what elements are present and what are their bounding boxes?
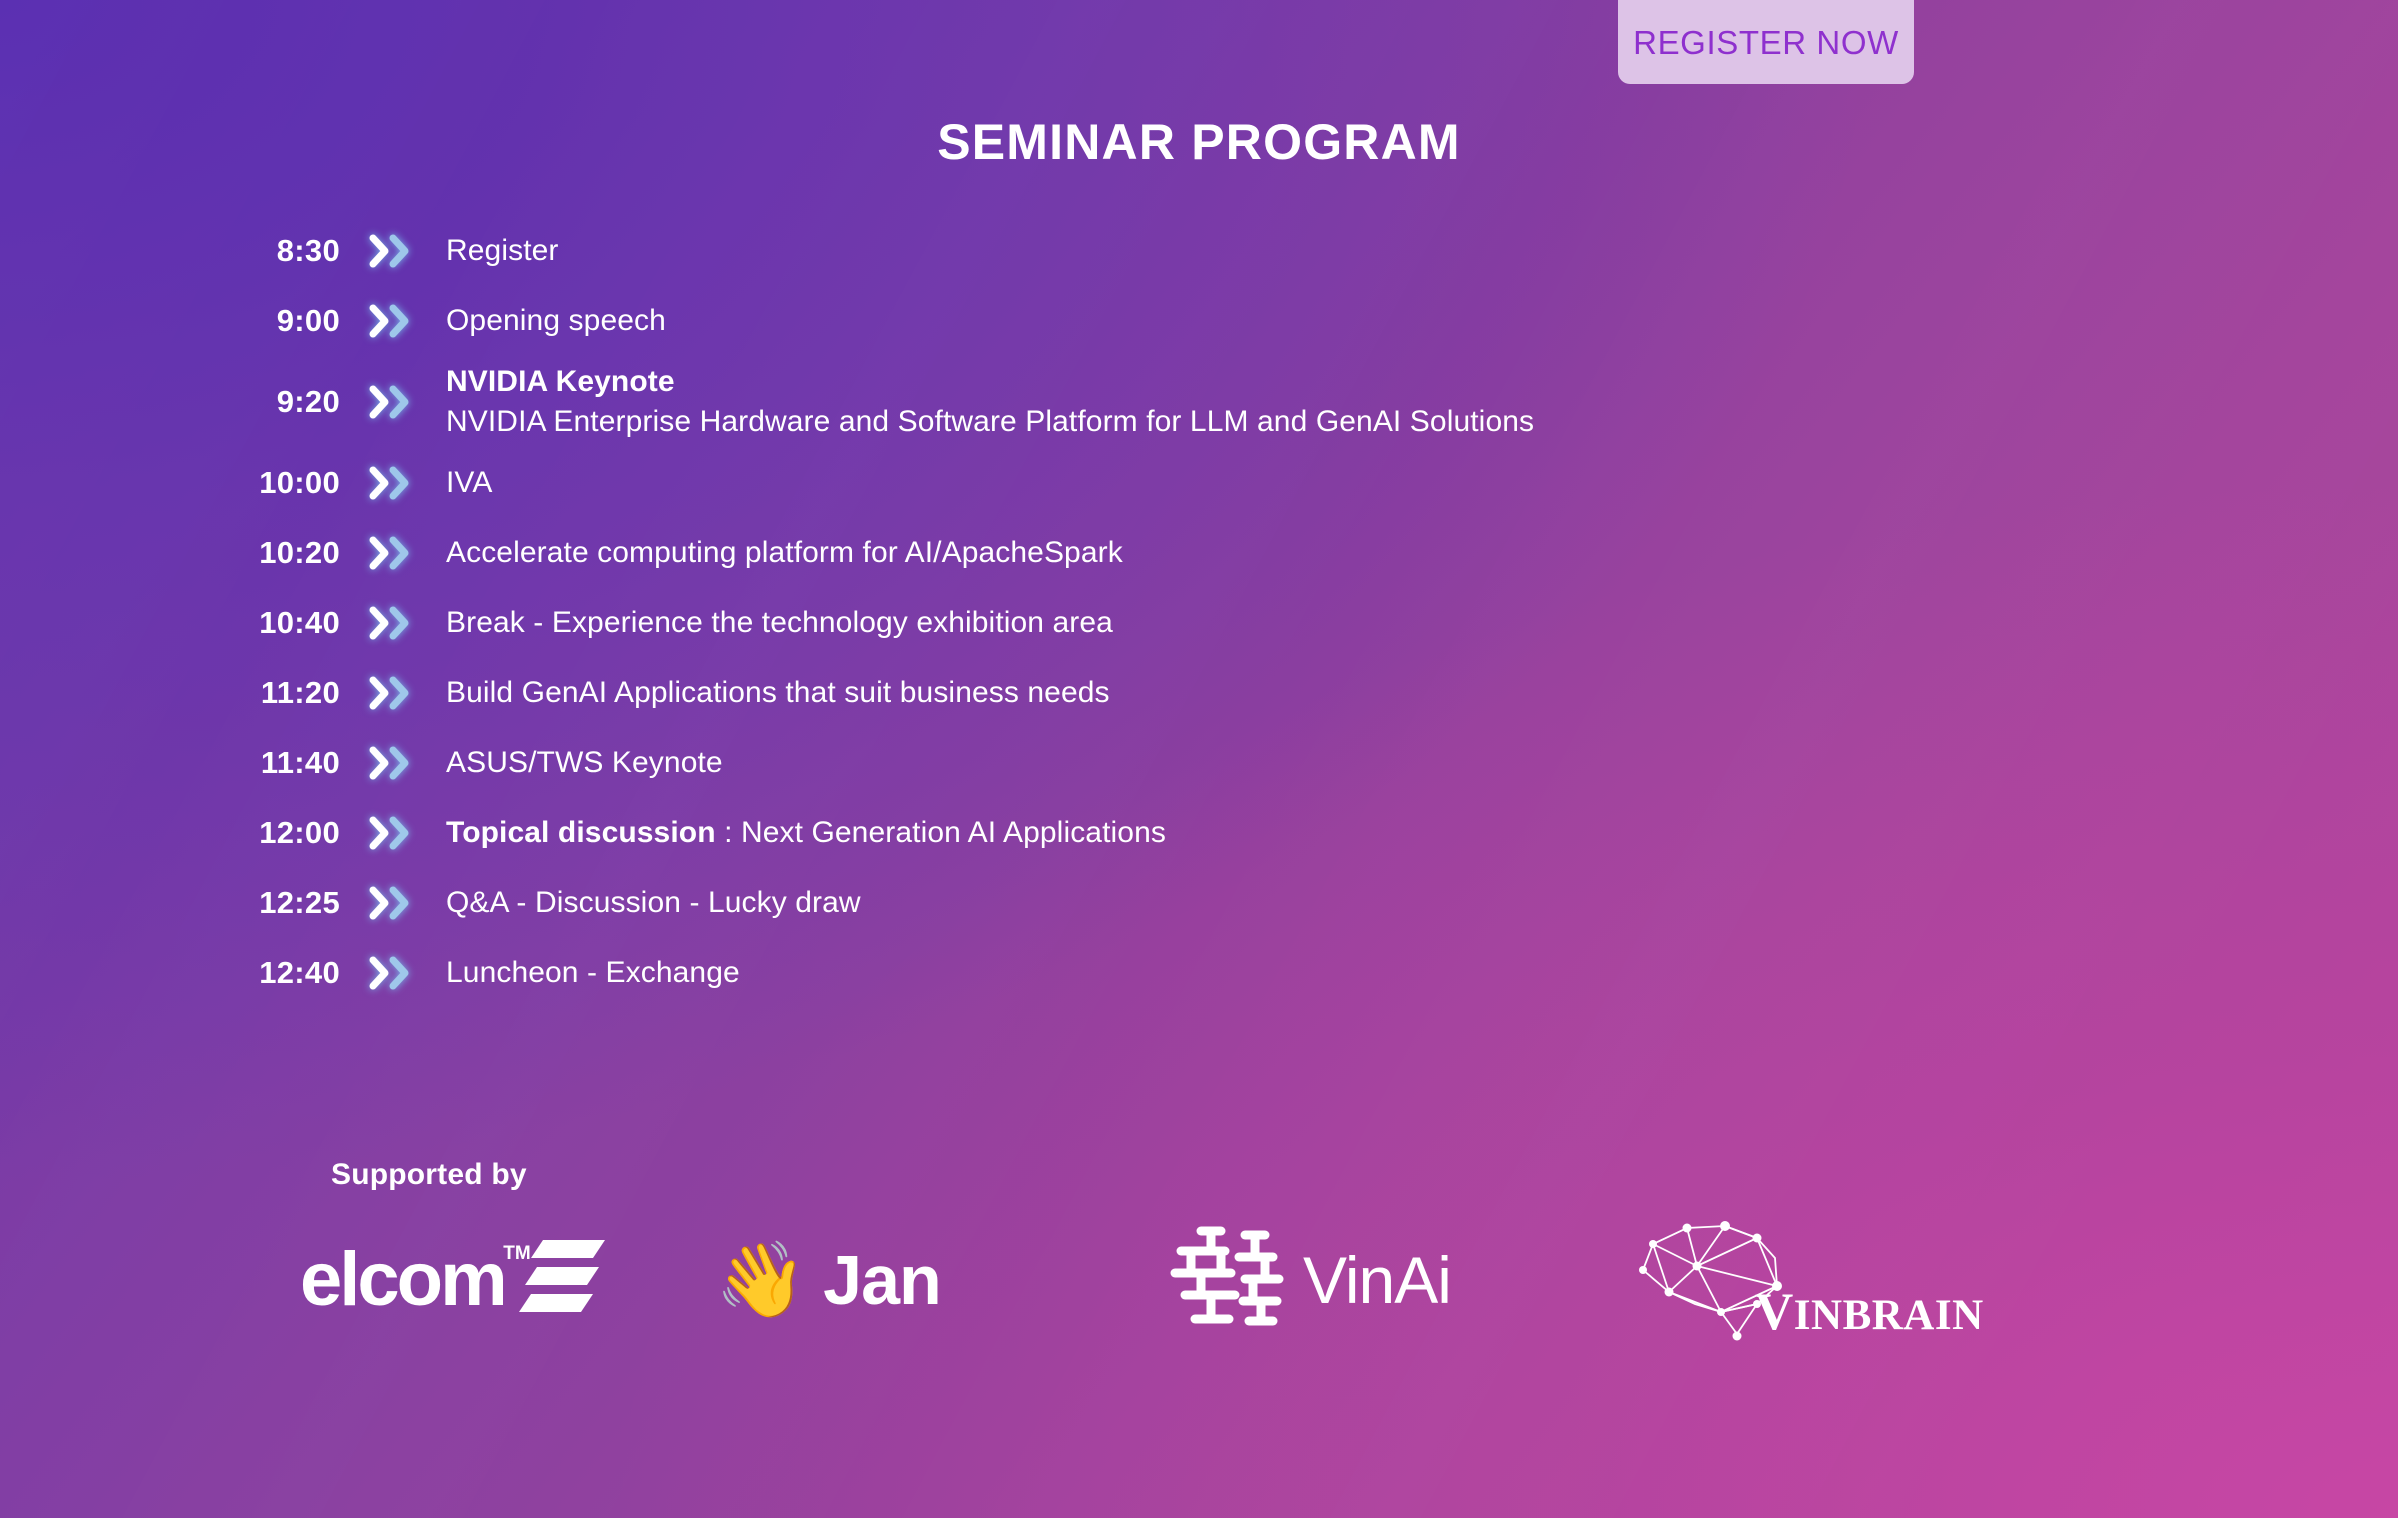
schedule-entry: Opening speech: [444, 301, 666, 341]
elcom-wordmark-text: elcom: [300, 1237, 505, 1322]
supported-by-label: Supported by: [331, 1158, 527, 1192]
schedule-subtitle: NVIDIA Enterprise Hardware and Software …: [446, 402, 1534, 442]
double-chevron-right-icon: [340, 816, 444, 850]
schedule-title: Break - Experience the technology exhibi…: [446, 606, 1113, 639]
schedule-entry: Build GenAI Applications that suit busin…: [444, 673, 1110, 713]
schedule-title: Q&A - Discussion - Lucky draw: [446, 886, 861, 919]
schedule-row: 10:00 IVA: [0, 448, 2398, 518]
schedule-row: 10:20 Accelerate computing platform for …: [0, 518, 2398, 588]
schedule-row: 12:00 Topical discussion : Next Generati…: [0, 798, 2398, 868]
schedule-entry: Register: [444, 231, 559, 271]
schedule-title: Build GenAI Applications that suit busin…: [446, 676, 1110, 709]
sponsor-logo-vinai: VinAi: [1165, 1212, 1625, 1347]
schedule-row: 10:40 Break - Experience the technology …: [0, 588, 2398, 658]
schedule-title: Accelerate computing platform for AI/Apa…: [446, 536, 1123, 569]
schedule-time: 9:20: [0, 384, 340, 420]
jan-wordmark: Jan: [823, 1245, 941, 1315]
schedule-title: IVA: [446, 466, 492, 499]
double-chevron-right-icon: [340, 956, 444, 990]
schedule-time: 10:40: [0, 605, 340, 641]
schedule-time: 12:00: [0, 815, 340, 851]
slanted-e-bars-icon: [519, 1238, 605, 1321]
schedule-title: Opening speech: [446, 304, 666, 337]
schedule-entry: Break - Experience the technology exhibi…: [444, 603, 1113, 643]
sponsor-logo-row: elcom TM 👋 Jan: [300, 1212, 2130, 1347]
schedule-title: ASUS/TWS Keynote: [446, 746, 723, 779]
double-chevron-right-icon: [340, 304, 444, 338]
schedule-time: 11:20: [0, 675, 340, 711]
schedule-entry: ASUS/TWS Keynote: [444, 743, 723, 783]
vinbrain-wordmark: VINBRAIN: [1755, 1286, 1984, 1339]
schedule-time: 11:40: [0, 745, 340, 781]
schedule-row: 11:20 Build GenAI Applications that suit…: [0, 658, 2398, 728]
double-chevron-right-icon: [340, 536, 444, 570]
double-chevron-right-icon: [340, 234, 444, 268]
schedule-row: 8:30 Register: [0, 216, 2398, 286]
schedule-row: 11:40 ASUS/TWS Keynote: [0, 728, 2398, 798]
double-chevron-right-icon: [340, 466, 444, 500]
double-chevron-right-icon: [340, 385, 444, 419]
schedule-row: 9:00 Opening speech: [0, 286, 2398, 356]
schedule-row: 12:25 Q&A - Discussion - Lucky draw: [0, 868, 2398, 938]
circuit-dots-icon: [1165, 1221, 1285, 1338]
sponsor-logo-vinbrain: VINBRAIN: [1625, 1212, 2095, 1347]
schedule-row: 9:20 NVIDIA Keynote NVIDIA Enterprise Ha…: [0, 356, 2398, 448]
waving-hand-icon: 👋: [715, 1243, 807, 1317]
schedule-entry: Q&A - Discussion - Lucky draw: [444, 883, 861, 923]
schedule-time: 8:30: [0, 233, 340, 269]
schedule-time: 12:40: [0, 955, 340, 991]
page-title: SEMINAR PROGRAM: [0, 113, 2398, 171]
schedule-time: 10:20: [0, 535, 340, 571]
schedule-time: 12:25: [0, 885, 340, 921]
sponsor-logo-jan: 👋 Jan: [715, 1212, 1165, 1347]
register-now-button[interactable]: REGISTER NOW: [1618, 0, 1914, 84]
schedule-time: 10:00: [0, 465, 340, 501]
elcom-wordmark: elcom TM: [300, 1242, 505, 1318]
schedule-row: 12:40 Luncheon - Exchange: [0, 938, 2398, 1008]
vinbrain-wordmark-cap: V: [1755, 1283, 1794, 1341]
vinbrain-wordmark-rest: INBRAIN: [1794, 1292, 1984, 1339]
schedule-title: NVIDIA Keynote: [446, 365, 675, 398]
double-chevron-right-icon: [340, 606, 444, 640]
seminar-schedule-list: 8:30 Register 9:00 Opening speech 9:20: [0, 216, 2398, 1008]
double-chevron-right-icon: [340, 886, 444, 920]
seminar-program-slide: REGISTER NOW SEMINAR PROGRAM 8:30 Regist…: [0, 0, 2398, 1518]
vinai-wordmark: VinAi: [1303, 1247, 1451, 1313]
schedule-entry: NVIDIA Keynote NVIDIA Enterprise Hardwar…: [444, 362, 1534, 442]
sponsor-logo-elcom: elcom TM: [300, 1212, 715, 1347]
schedule-title: Topical discussion: [446, 816, 716, 849]
schedule-entry: Accelerate computing platform for AI/Apa…: [444, 533, 1123, 573]
schedule-entry: Luncheon - Exchange: [444, 953, 740, 993]
schedule-title: Luncheon - Exchange: [446, 956, 740, 989]
schedule-title: Register: [446, 234, 559, 267]
trademark-symbol: TM: [503, 1244, 530, 1263]
schedule-time: 9:00: [0, 303, 340, 339]
double-chevron-right-icon: [340, 746, 444, 780]
double-chevron-right-icon: [340, 676, 444, 710]
schedule-title-suffix: : Next Generation AI Applications: [716, 816, 1166, 849]
schedule-entry: Topical discussion : Next Generation AI …: [444, 813, 1166, 853]
schedule-entry: IVA: [444, 463, 492, 503]
